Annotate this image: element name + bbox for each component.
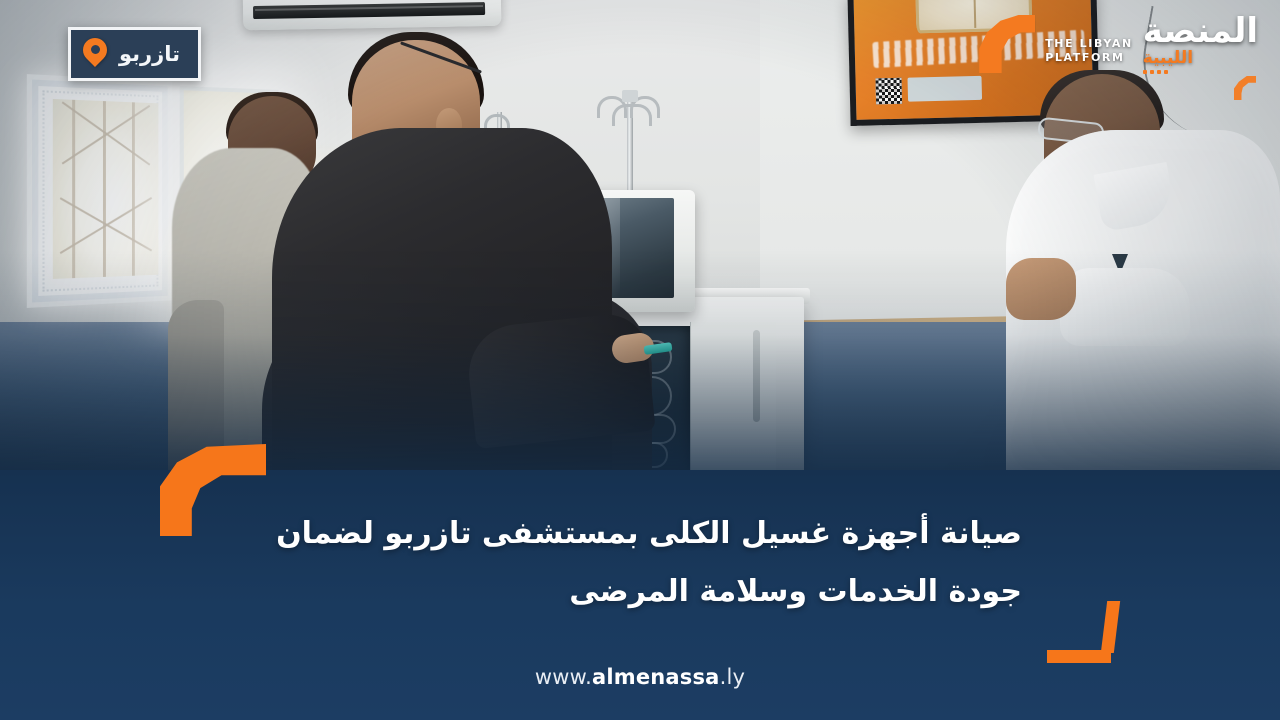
channel-logo[interactable]: المنصة الليبية THE LIBYAN PLATFORM [979, 14, 1258, 74]
window-glass [53, 99, 159, 279]
iv-hook-center [612, 104, 652, 126]
machine-front-door [690, 322, 776, 482]
logo-arabic-sub: الليبية [1143, 50, 1193, 67]
logo-english-line-1: THE LIBYAN [1045, 37, 1133, 51]
logo-bracket-mark-icon [979, 15, 1035, 73]
logo-dots-decor [1143, 70, 1168, 74]
location-badge[interactable]: تازربو [68, 27, 201, 81]
poster-label-strip [907, 76, 982, 102]
location-badge-label: تازربو [119, 44, 180, 65]
url-suffix: .ly [720, 665, 746, 689]
supervisor-hands [1006, 258, 1076, 320]
url-prefix: www. [535, 665, 592, 689]
map-pin-icon [83, 38, 107, 70]
website-url[interactable]: www.almenassa.ly [0, 665, 1280, 689]
supervisor-sleeve [1060, 268, 1190, 346]
headline-text: صيانة أجهزة غسيل الكلى بمستشفى تازربو لض… [250, 505, 1022, 620]
logo-english-block: THE LIBYAN PLATFORM [1045, 37, 1133, 65]
poster-qr-code [876, 78, 903, 105]
logo-arabic-block: المنصة الليبية [1143, 14, 1258, 74]
news-card: تازربو المنصة الليبية THE LIBYAN PLATFOR… [0, 0, 1280, 720]
logo-arabic-main: المنصة [1143, 14, 1258, 48]
air-conditioner-vent [253, 2, 485, 19]
window-frame [27, 74, 172, 308]
logo-english-line-2: PLATFORM [1045, 51, 1124, 65]
url-brand: almenassa [592, 665, 720, 689]
machine-door-handle [753, 330, 760, 422]
air-conditioner-unit [243, 0, 502, 30]
technician-hoodie-arm [464, 311, 656, 449]
decor-bracket-right-icon [1047, 601, 1121, 663]
iv-stand-cap [622, 90, 638, 102]
